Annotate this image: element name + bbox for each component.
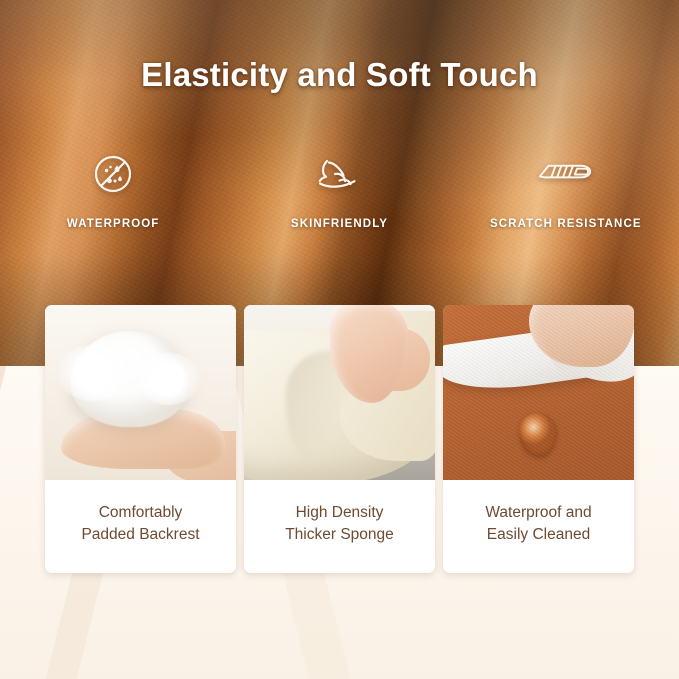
- feature-scratch-resistance: SCRATCH RESISTANCE: [453, 146, 679, 230]
- card-caption: Waterproof and Easily Cleaned: [443, 480, 634, 573]
- caption-line-2: Thicker Sponge: [285, 524, 394, 546]
- scratch-resistance-cutter-icon: [536, 146, 596, 202]
- hand-holding-fiberfill-photo: [45, 305, 236, 480]
- card-caption: Comfortably Padded Backrest: [45, 480, 236, 573]
- feature-label-scratch-resistance: SCRATCH RESISTANCE: [490, 218, 642, 230]
- wiping-spill-on-leather-photo: [443, 305, 634, 480]
- waterproof-icon: [83, 146, 143, 202]
- feature-label-skinfriendly: SKINFRIENDLY: [291, 218, 388, 230]
- tissue-shape: [443, 320, 630, 398]
- caption-line-1: High Density: [296, 502, 384, 524]
- skinfriendly-hand-icon: [309, 146, 369, 202]
- fiberfill-shape: [71, 331, 189, 427]
- product-feature-infographic: Elasticity and Soft Touch W: [0, 0, 679, 679]
- hand-shape: [529, 305, 634, 367]
- caption-line-1: Comfortably: [99, 502, 183, 524]
- hand-pressing-foam-photo: [244, 305, 435, 480]
- caption-line-2: Padded Backrest: [81, 524, 199, 546]
- caption-line-2: Easily Cleaned: [487, 524, 590, 546]
- feature-label-waterproof: WATERPROOF: [67, 218, 160, 230]
- feature-card[interactable]: Comfortably Padded Backrest: [45, 305, 236, 573]
- feature-waterproof: WATERPROOF: [0, 146, 226, 230]
- feature-card-row: Comfortably Padded Backrest High Density…: [45, 305, 635, 573]
- feature-skinfriendly: SKINFRIENDLY: [226, 146, 452, 230]
- tissue-fold-shape: [541, 305, 634, 390]
- liquid-spill-shape: [519, 413, 557, 457]
- card-caption: High Density Thicker Sponge: [244, 480, 435, 573]
- feature-card[interactable]: Waterproof and Easily Cleaned: [443, 305, 634, 573]
- page-title: Elasticity and Soft Touch: [0, 56, 679, 94]
- feature-card[interactable]: High Density Thicker Sponge: [244, 305, 435, 573]
- feature-badge-row: WATERPROOF SKINFRIENDLY: [0, 146, 679, 230]
- caption-line-1: Waterproof and: [485, 502, 591, 524]
